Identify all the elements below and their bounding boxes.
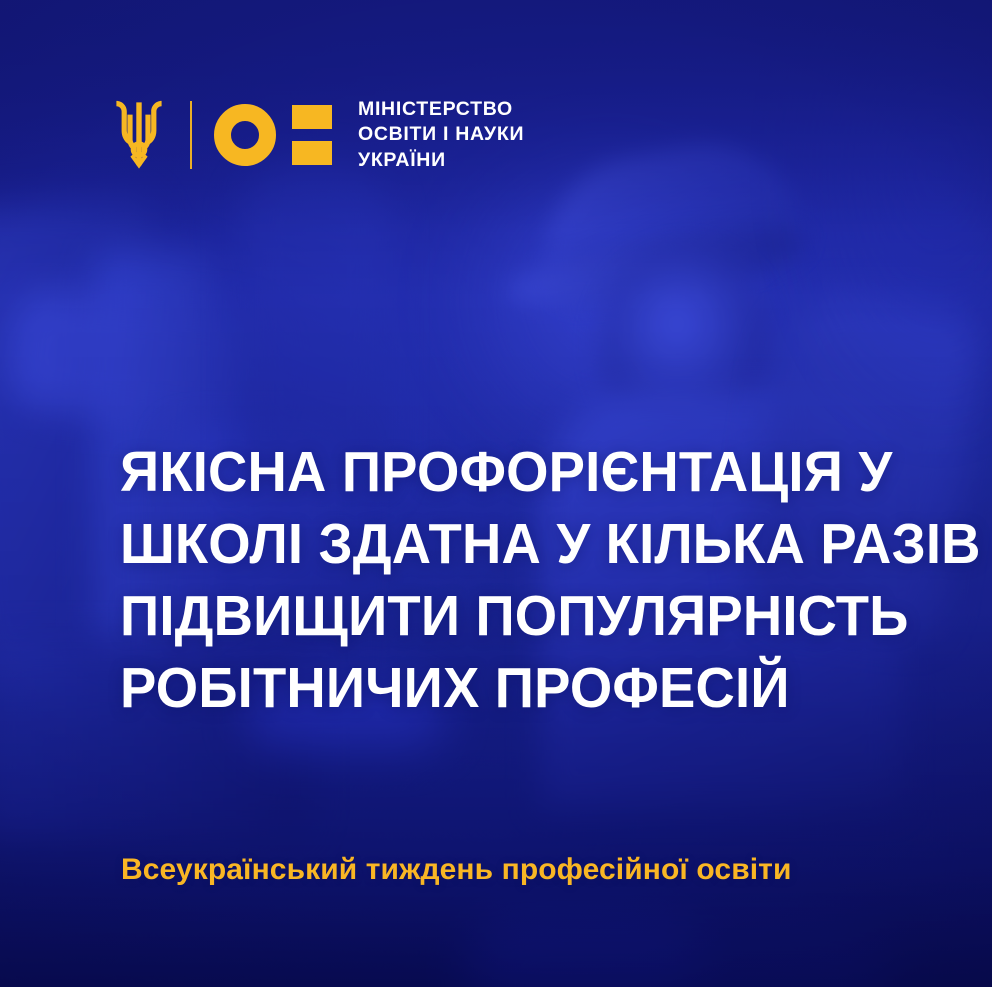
campaign-subtitle: Всеукраїнський тиждень професійної освіт… <box>121 850 792 890</box>
ukraine-trident-icon <box>110 100 168 170</box>
equals-bars-icon <box>292 105 332 165</box>
ministry-logo: МІНІСТЕРСТВО ОСВІТИ І НАУКИ УКРАЇНИ <box>110 92 524 178</box>
headline-line-4: РОБІТНИЧИХ ПРОФЕСІЙ <box>120 652 941 724</box>
ministry-logo-line-1: МІНІСТЕРСТВО <box>358 98 513 120</box>
headline: ЯКІСНА ПРОФОРІЄНТАЦІЯ У ШКОЛІ ЗДАТНА У К… <box>120 436 941 724</box>
headline-line-2: ШКОЛІ ЗДАТНА У КІЛЬКА РАЗІВ <box>120 508 941 580</box>
ministry-logo-line-3: УКРАЇНИ <box>358 149 446 171</box>
ministry-logo-line-2: ОСВІТИ І НАУКИ <box>358 123 524 145</box>
headline-line-1: ЯКІСНА ПРОФОРІЄНТАЦІЯ У <box>120 436 941 508</box>
logo-divider <box>190 101 192 169</box>
mon-logo-mark <box>214 104 332 166</box>
headline-line-3: ПІДВИЩИТИ ПОПУЛЯРНІСТЬ <box>120 580 941 652</box>
ministry-logo-text: МІНІСТЕРСТВО ОСВІТИ І НАУКИ УКРАЇНИ <box>358 97 524 173</box>
poster-content: МІНІСТЕРСТВО ОСВІТИ І НАУКИ УКРАЇНИ ЯКІС… <box>0 0 992 987</box>
poster-canvas: МІНІСТЕРСТВО ОСВІТИ І НАУКИ УКРАЇНИ ЯКІС… <box>0 0 992 987</box>
circle-ring-icon <box>214 104 276 166</box>
